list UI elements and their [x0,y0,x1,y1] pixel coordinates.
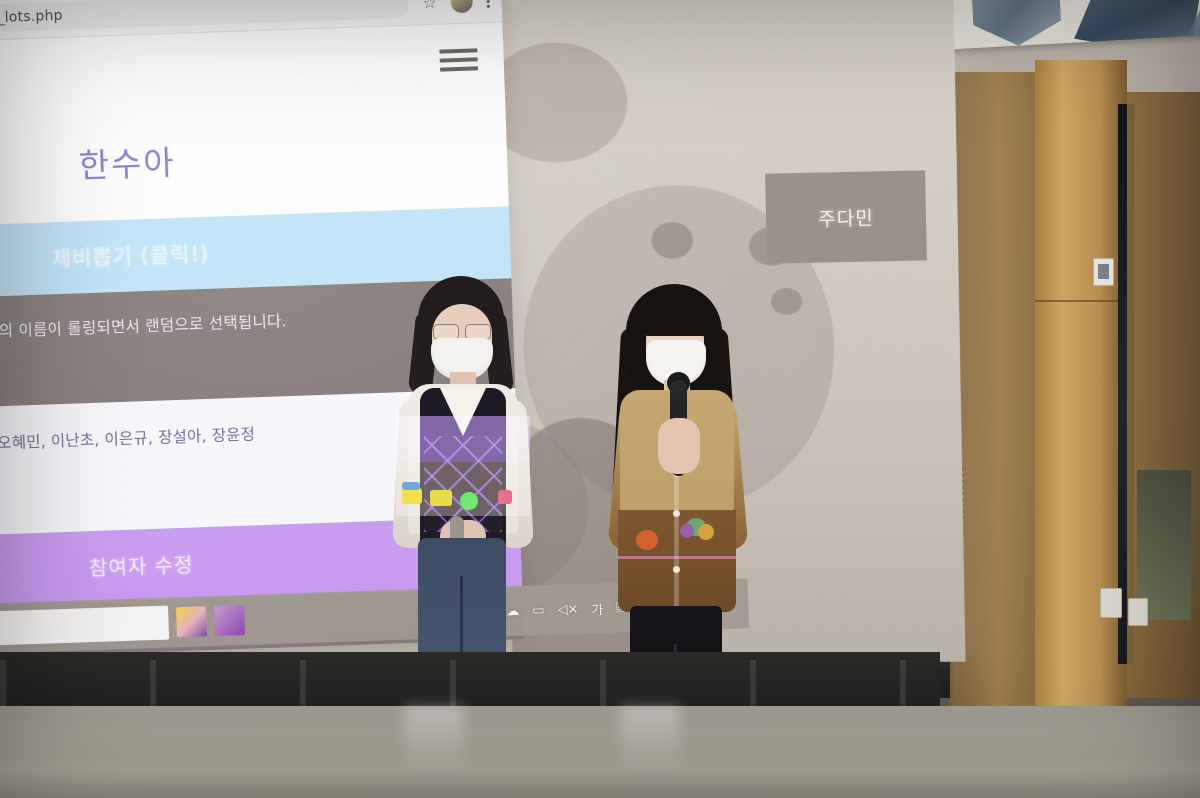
url-text: wally.co.kr/Drawing_lots.php [0,8,63,31]
fruit-print-icon [680,524,694,538]
polygon-decoration-icon [970,0,1063,48]
bookmark-star-icon[interactable]: ☆ [422,0,437,13]
wood-seam [1035,300,1127,302]
taskbar-app-icon[interactable] [176,606,207,637]
profile-avatar-icon[interactable] [450,0,473,13]
windows-search-box[interactable]: 검색하려면 여기에 입력하십시오. [0,606,169,654]
screenshot-root: TUE 18:00 장소 CLC 4층 비전홀 및 ZOOM 주다민 — ▢ ✕… [0,0,1200,798]
taskbar-app-icon[interactable] [214,605,245,636]
emergency-switch-icon [1093,258,1114,286]
projected-color-patch [498,490,512,504]
glasses-icon [432,324,492,338]
wood-column-main [1035,60,1127,728]
overflow-menu-icon[interactable] [486,0,489,8]
stage-support-legs [0,660,940,710]
floor-gloss [0,706,1200,798]
floor-reflection [620,706,680,776]
wall-outlet-icon [1128,598,1148,626]
projection-blob [771,288,803,315]
projected-color-patch [402,488,422,504]
hair-bangs [640,306,712,336]
fruit-print-icon [636,530,658,550]
tray-volume-muted-icon[interactable]: ◁× [557,601,578,617]
hands [658,418,700,474]
wall-outlet-icon [1100,588,1122,618]
floor-reflection [404,706,464,776]
shirt-button [673,566,680,573]
projected-color-patch [460,492,478,510]
projected-color-patch [430,490,452,506]
projected-name-card-label: 주다민 [818,203,874,231]
fruit-print-icon [698,524,714,540]
projected-name-card: 주다민 [765,170,927,263]
hamburger-menu-icon[interactable] [439,48,478,71]
projected-color-patch [402,482,420,490]
shirt-button [673,510,680,517]
projected-light-band [396,416,530,462]
